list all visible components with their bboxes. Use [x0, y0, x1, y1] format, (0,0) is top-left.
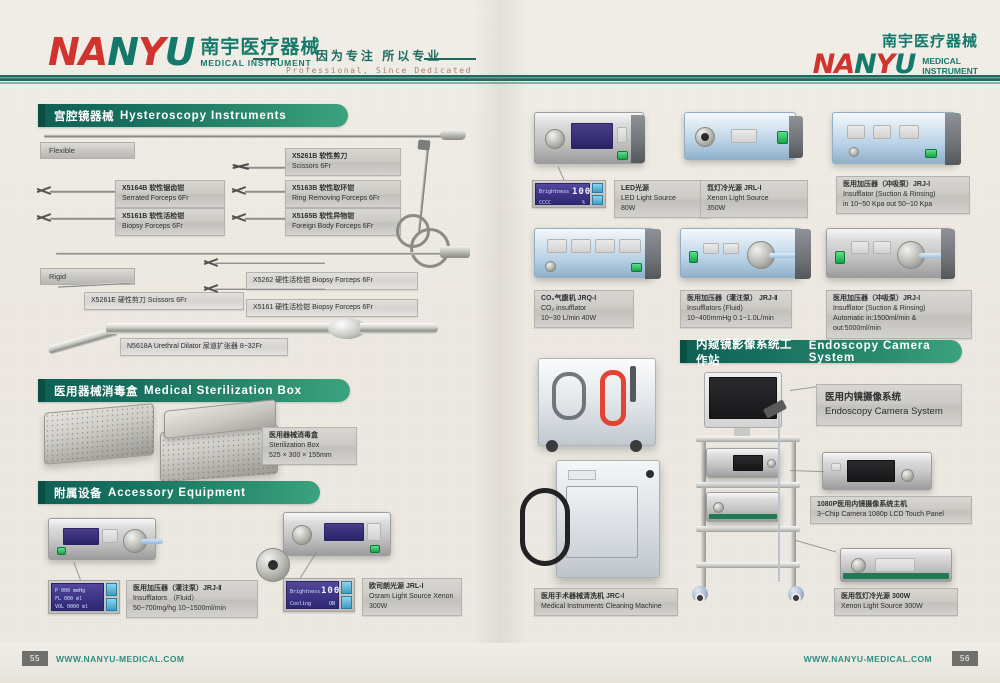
device-insufflator-suction-2 — [826, 228, 952, 278]
sterilization-box-closed — [44, 403, 154, 465]
power-button[interactable] — [617, 151, 628, 160]
device-osram-light-source — [283, 512, 391, 556]
brand-wordmark: NANYU — [48, 34, 194, 70]
forceps-jaw-icon — [203, 256, 219, 269]
device-side-panel — [941, 229, 955, 279]
device-side-panel — [945, 113, 961, 165]
caption-insufflator-suction-1: 医用加压器（冲吸泵）JRJ-Ⅰ Insufflator (Suction & R… — [836, 176, 970, 214]
section-header-accessory: 附属设备 Accessory Equipment — [38, 481, 320, 504]
section-title-en: Endoscopy Camera System — [809, 340, 962, 364]
forceps-jaw-icon — [36, 211, 52, 224]
status-strip — [709, 514, 777, 519]
device-1080p-camera-unit — [822, 452, 932, 490]
device-display-1 — [851, 241, 869, 254]
section-title-en: Accessory Equipment — [108, 487, 246, 499]
device-display — [733, 455, 763, 471]
section-title-cn: 医用器械消毒盒 — [54, 383, 138, 399]
lcd-keypad[interactable] — [106, 583, 117, 611]
device-display-3 — [595, 239, 615, 253]
device-keypad[interactable] — [617, 127, 627, 143]
lcd-key-down[interactable] — [106, 598, 117, 611]
cart-caster-right — [788, 586, 804, 602]
light-output-port[interactable] — [292, 525, 312, 545]
monitor-stand — [734, 428, 750, 436]
power-button[interactable] — [57, 547, 66, 555]
caption-scissors: X5261B 软性剪刀 Scissors 6Fr — [285, 148, 401, 176]
caption-1080p-camera: 1080P医用内镜摄像系统主机 3~Chip Camera 1080p LCD … — [810, 496, 972, 524]
flexible-scope-handle — [440, 130, 466, 140]
gas-outlet-port[interactable] — [545, 261, 556, 272]
section-title-en: Hysteroscopy Instruments — [120, 110, 287, 122]
device-display — [63, 528, 99, 545]
forceps-jaw-icon — [203, 282, 219, 295]
cart-device-light-source — [706, 492, 780, 522]
device-insufflator-suction-1 — [832, 112, 956, 164]
device-port[interactable] — [767, 459, 776, 468]
device-display-2 — [571, 239, 591, 253]
caption-insufflator-fluid-2: 医用加压器（灌注泵） JRJ-Ⅱ Insufflators (Fluid) 10… — [680, 290, 792, 328]
device-co2-insufflator — [534, 228, 654, 278]
power-button[interactable] — [370, 545, 380, 553]
spray-gun — [630, 366, 636, 402]
caption-xenon-300w: 医用氙灯冷光源 300W Xenon Light Source 300W — [834, 588, 958, 616]
device-xenon-300w — [840, 548, 952, 582]
section-header-hysteroscopy: 宫腔镜器械 Hysteroscopy Instruments — [38, 104, 348, 127]
device-led-light-source — [534, 112, 644, 164]
slogan-rule-left — [253, 58, 279, 60]
caption-ring-removing-forceps: X5163B 软性取环钳 Ring Removing Forceps 6Fr — [285, 180, 401, 208]
lcd-callout-led: Brightness 100 CCCC % — [532, 180, 606, 208]
section-title-cn: 宫腔镜器械 — [54, 108, 114, 124]
caption-urethral-dilator: N5618A Urethral Dilator 尿道扩张器 8~32Fr — [120, 338, 288, 356]
cart-shelf-1 — [696, 436, 800, 442]
brand-name-cn-right: 南宇医疗器械 — [813, 30, 978, 51]
cart-device-camera-unit — [706, 448, 780, 478]
caption-insufflator-suction-2: 医用加压器（冲吸泵）JRJ-Ⅰ Insufflator (Suction & R… — [826, 290, 972, 339]
device-keypad[interactable] — [367, 523, 381, 541]
light-port[interactable] — [545, 129, 565, 149]
footer-url-right[interactable]: WWW.NANYU-MEDICAL.COM — [804, 654, 932, 664]
power-button[interactable] — [777, 131, 788, 144]
caption-xenon-light-source: 氙灯冷光源 JRL-Ⅰ Xenon Light Source 350W — [700, 180, 808, 218]
forceps-jaw-icon — [231, 211, 247, 224]
lcd-key-up[interactable] — [592, 183, 603, 193]
instrument-shaft-rigid-biopsy-1 — [215, 262, 325, 264]
lcd-key-up[interactable] — [106, 583, 117, 596]
machine-label — [568, 470, 596, 480]
rigid-scope-handle — [440, 246, 470, 258]
caption-biopsy-forceps-flex: X5161B 软性活检钳 Biopsy Forceps 6Fr — [115, 208, 225, 236]
pill-edge — [38, 481, 45, 504]
lcd-keypad[interactable] — [341, 581, 352, 609]
page-number-right: 56 — [952, 651, 978, 666]
light-port[interactable] — [851, 558, 866, 573]
lcd-keypad[interactable] — [592, 183, 603, 205]
device-button[interactable] — [831, 463, 841, 471]
lcd-callout-insufflator: P 000 mmHg FL 000 ml VOL 0000 ml — [48, 580, 120, 614]
device-side-panel — [645, 229, 661, 279]
caption-foreign-body-forceps: X5165B 软性异物钳 Foreign Body Forceps 6Fr — [285, 208, 401, 236]
device-touch-panel — [847, 460, 895, 482]
device-display-2 — [873, 125, 891, 139]
black-hose — [520, 488, 570, 566]
cart-shelf-4 — [696, 562, 800, 568]
forceps-jaw-icon — [231, 184, 247, 197]
device-display — [875, 558, 915, 572]
slogan-en: Professional, Since Dedicated — [286, 66, 472, 75]
brand-logo-left: NANYU 南宇医疗器械 MEDICAL INSTRUMENT — [48, 34, 320, 70]
device-side-panel — [795, 229, 811, 279]
device-side-panel — [789, 116, 803, 158]
caster-wheel — [546, 440, 558, 452]
page-gutter — [472, 0, 528, 683]
flexible-scope-shaft — [44, 134, 444, 138]
caption-co2-insufflator: CO₂气腹机 JRQ-Ⅰ CO₂ insufflator 10~30 L/min… — [534, 290, 634, 328]
cart-shelf-2 — [696, 482, 800, 488]
section-title-en: Medical Sterilization Box — [144, 385, 302, 397]
device-controls[interactable] — [731, 129, 757, 143]
page-header: NANYU 南宇医疗器械 MEDICAL INSTRUMENT 因为专注 所以专… — [0, 0, 1000, 88]
footer-url-left[interactable]: WWW.NANYU-MEDICAL.COM — [56, 654, 184, 664]
caption-osram-light-source: 欧司朗光源 JRL-Ⅰ Osram Light Source Xenon 300… — [362, 578, 462, 616]
lcd-key-down[interactable] — [341, 596, 352, 609]
device-insufflator-fluid-2 — [680, 228, 802, 278]
light-port[interactable] — [713, 502, 724, 513]
device-keypad — [102, 529, 118, 543]
rigid-scope-shaft — [56, 252, 456, 255]
tubing — [141, 539, 163, 544]
section-title-cn: 附属设备 — [54, 485, 102, 501]
caption-insufflator-fluid: 医用加压器（灌注泵）JRJ-Ⅱ Insufflators （Fluid） 50~… — [126, 580, 258, 618]
lcd-callout-osram: Brightness 100 Cooling ON — [283, 578, 355, 612]
cart-shelf-3 — [696, 526, 800, 532]
status-strip — [843, 573, 949, 579]
device-display — [324, 523, 364, 541]
device-display-1 — [847, 125, 865, 139]
device-display-2 — [873, 241, 891, 254]
indicator-light — [646, 470, 654, 478]
section-header-sterilization: 医用器械消毒盒 Medical Sterilization Box — [38, 379, 350, 402]
pill-edge — [38, 379, 45, 402]
endoscopy-cart — [690, 372, 822, 610]
cleaning-machine-door — [566, 486, 638, 558]
perforation-pattern — [45, 404, 153, 463]
section-header-camera-system: 内窥镜影像系统工作站 Endoscopy Camera System — [680, 340, 962, 363]
caption-cleaning-machine: 医用手术器械清洗机 JRC-Ⅰ Medical Instruments Clea… — [534, 588, 678, 616]
device-display-1 — [703, 243, 719, 254]
slogan-cn: 因为专注 所以专业 — [286, 47, 472, 64]
caption-sterilization-box: 医用器械消毒盒 Sterilization Box 525 × 300 × 15… — [262, 427, 357, 465]
coiled-hose-grey — [552, 372, 586, 420]
scope-cable — [778, 412, 780, 582]
lcd-screen: Brightness 100 CCCC % — [535, 183, 590, 205]
header-rule — [0, 75, 1000, 81]
header-rule-secondary — [0, 82, 1000, 84]
instrument-shaft-rigid-biopsy-2 — [215, 288, 325, 290]
device-side-panel — [631, 115, 645, 163]
caster-wheel — [630, 440, 642, 452]
device-insufflator-fluid — [48, 518, 156, 560]
device-display — [571, 123, 613, 149]
power-button[interactable] — [631, 263, 642, 272]
slogan: 因为专注 所以专业 Professional, Since Dedicated — [286, 47, 472, 75]
camera-port[interactable] — [901, 469, 914, 482]
monitor-bezel — [704, 372, 782, 428]
brand-logo-right: 南宇医疗器械 NANYU MEDICAL INSTRUMENT — [813, 30, 978, 80]
device-display-4 — [619, 239, 641, 253]
coiled-hose-red — [600, 370, 626, 426]
lcd-key-up[interactable] — [341, 581, 352, 594]
caption-led-light-source: LED光源 LED Light Source 80W — [614, 180, 710, 218]
slogan-rule-right — [424, 58, 476, 60]
lcd-key-down[interactable] — [592, 195, 603, 205]
pill-edge — [680, 340, 687, 363]
power-button[interactable] — [835, 251, 845, 264]
inlet-port[interactable] — [849, 147, 859, 157]
device-display-1 — [547, 239, 567, 253]
cart-caster-left — [692, 586, 708, 602]
forceps-jaw-icon — [36, 184, 52, 197]
page-number-left: 55 — [22, 651, 48, 666]
device-xenon-light-source — [684, 112, 796, 160]
tag-flexible: Flexible — [40, 142, 135, 159]
lcd-screen: P 000 mmHg FL 000 ml VOL 0000 ml — [51, 583, 104, 611]
section-title-cn: 内窥镜影像系统工作站 — [696, 336, 803, 368]
port-core — [701, 133, 709, 141]
caption-endoscopy-camera-system: 医用内镜摄像系统 Endoscopy Camera System — [816, 384, 962, 426]
power-button[interactable] — [925, 149, 937, 158]
scissors-jaw-icon — [232, 160, 250, 172]
lcd-screen: Brightness 100 Cooling ON — [286, 581, 339, 609]
device-display-2 — [723, 243, 739, 254]
device-display-3 — [899, 125, 919, 139]
power-button[interactable] — [689, 251, 698, 263]
connector-core — [268, 560, 278, 570]
pill-edge — [38, 104, 45, 127]
catalog-page: NANYU 南宇医疗器械 MEDICAL INSTRUMENT 因为专注 所以专… — [0, 0, 1000, 683]
caption-serrated-forceps: X5164B 软性锯齿钳 Serrated Forceps 6Fr — [115, 180, 225, 208]
